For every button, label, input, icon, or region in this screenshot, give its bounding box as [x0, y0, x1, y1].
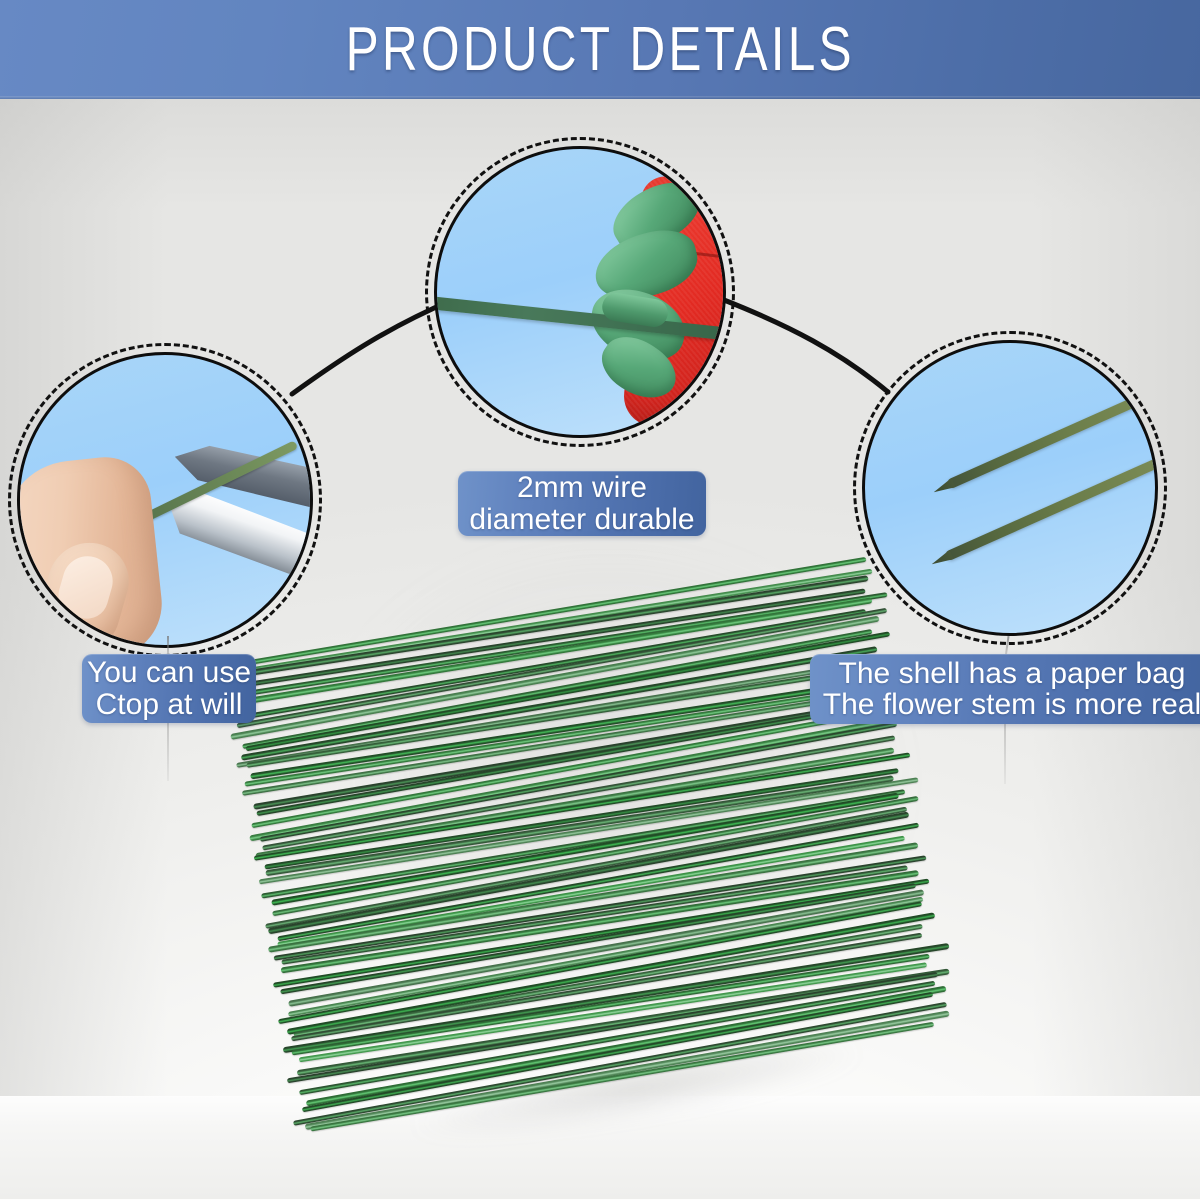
product-details-infographic: PRODUCT DETAILS [0, 0, 1200, 1200]
caption-line: The shell has a paper bag [839, 658, 1186, 689]
callout-circle-wire-diameter [434, 146, 726, 438]
caption-box-stem-realism: The shell has a paper bag The flower ste… [810, 654, 1200, 724]
photo-wire-tips [862, 340, 1158, 636]
leader-line-left-lower [167, 723, 169, 781]
page-title: PRODUCT DETAILS [345, 19, 854, 81]
caption-line: 2mm wire [517, 472, 647, 503]
header-banner: PRODUCT DETAILS [0, 0, 1200, 99]
caption-box-wire-diameter: 2mm wire diameter durable [458, 471, 706, 536]
caption-box-cut-to-length: You can use Ctop at will [82, 654, 256, 723]
photo-stem-in-rose [434, 146, 726, 438]
caption-line: Ctop at will [96, 689, 243, 720]
photo-hand-cutting-wire [17, 352, 313, 648]
callout-photo-stem-realism [862, 340, 1158, 636]
leader-line-right-lower [1004, 724, 1006, 784]
callout-photo-cut-to-length [17, 352, 313, 648]
caption-line: You can use [87, 657, 251, 688]
callout-photo-wire-diameter [434, 146, 726, 438]
caption-line: The flower stem is more real [823, 689, 1200, 720]
caption-line: diameter durable [469, 504, 694, 535]
product-photo-wire-bundle [214, 535, 970, 1160]
wire-bundle-strands [214, 535, 970, 1160]
callout-circle-cut-to-length [17, 352, 313, 648]
callout-circle-stem-realism [862, 340, 1158, 636]
